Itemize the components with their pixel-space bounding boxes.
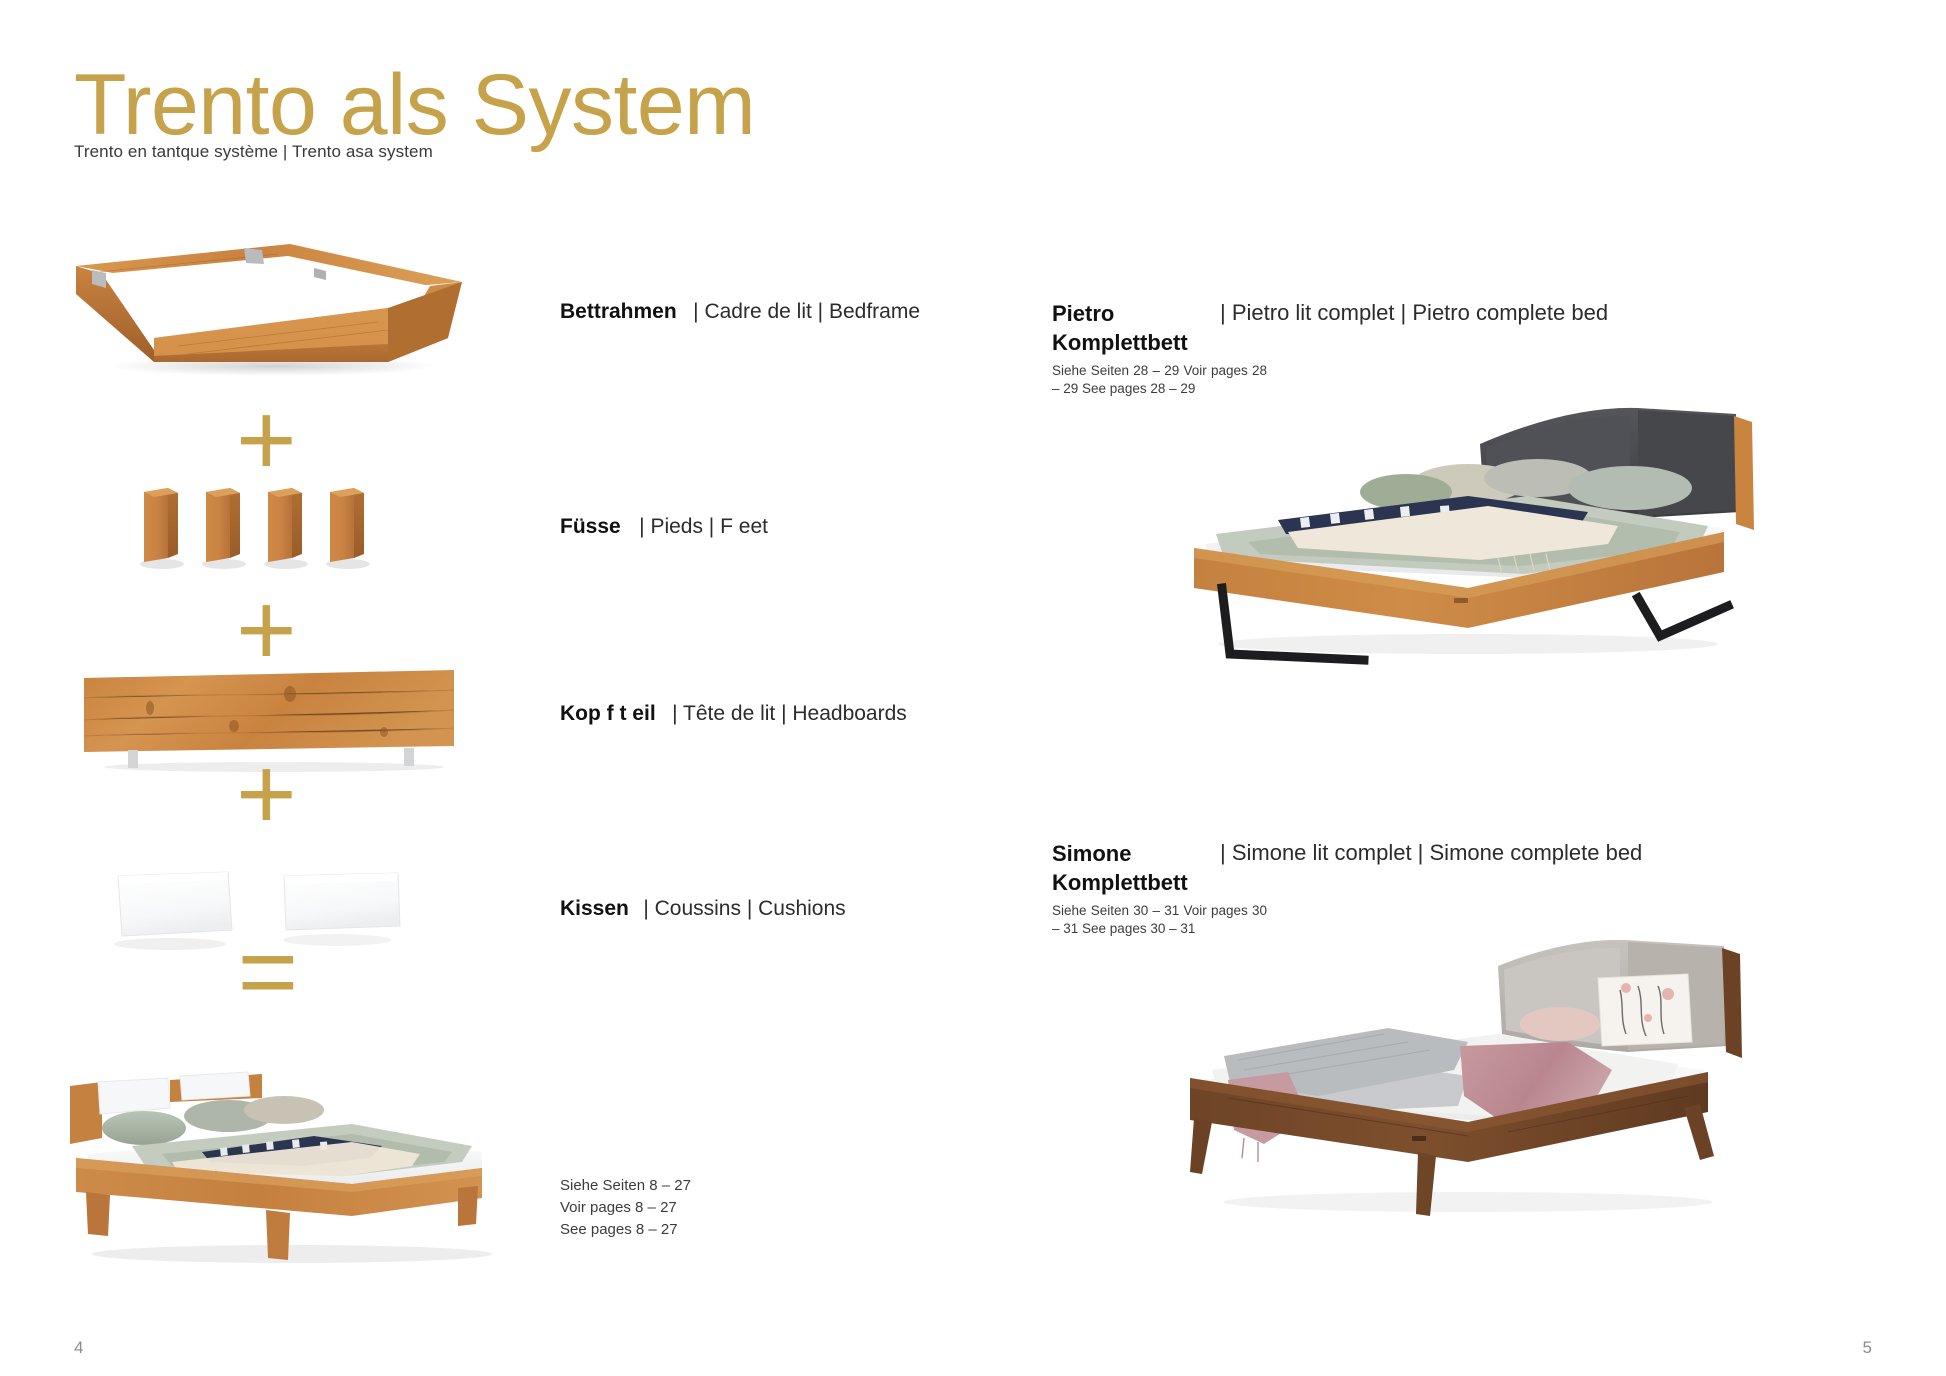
component-name-translations: | Coussins | Cushions [643, 897, 845, 920]
feet-image [140, 482, 400, 572]
component-label-cushions: Kissen | Coussins | Cushions [560, 897, 846, 921]
pietro-bed-image [1168, 392, 1768, 662]
page-number-left: 4 [74, 1338, 83, 1358]
page-number-right: 5 [1863, 1338, 1872, 1358]
component-name-translations: | Pieds | F eet [639, 515, 768, 538]
catalog-spread: Trento als System Trento en tantque syst… [0, 0, 1946, 1376]
operator-plus-3: + [236, 742, 297, 846]
product-heading-pietro: Pietro Komplettbett | Pietro lit complet… [1052, 300, 1612, 399]
trento-complete-bed-image [52, 1058, 522, 1268]
trento-page-reference: Siehe Seiten 8 – 27 Voir pages 8 – 27 Se… [560, 1175, 691, 1240]
component-name-de: Kissen [560, 897, 629, 920]
product-name-de-line2: Komplettbett [1052, 329, 1612, 358]
component-name-translations: | Tête de lit | Headboards [672, 702, 907, 725]
component-name-de: Bettrahmen [560, 300, 677, 323]
bedframe-image [58, 238, 478, 378]
operator-plus-1: + [236, 388, 297, 492]
product-name-de-line2: Komplettbett [1052, 869, 1612, 898]
component-name-de: Kop f t eil [560, 702, 656, 725]
component-label-feet: Füsse | Pieds | F eet [560, 515, 768, 539]
operator-plus-2: + [236, 578, 297, 682]
component-label-headboard: Kop f t eil | Tête de lit | Headboards [560, 702, 907, 726]
title-block: Trento als System Trento en tantque syst… [74, 62, 755, 162]
product-name-translations: | Simone lit complet | Simone complete b… [1220, 840, 1642, 866]
component-name-de: Füsse [560, 515, 621, 538]
simone-bed-image [1168, 930, 1768, 1220]
product-heading-simone: Simone Komplettbett | Simone lit complet… [1052, 840, 1612, 939]
component-label-bedframe: Bettrahmen | Cadre de lit | Bedframe [560, 300, 920, 324]
component-name-translations: | Cadre de lit | Bedframe [693, 300, 920, 323]
operator-equals: = [236, 920, 297, 1024]
page-title: Trento als System [74, 62, 755, 148]
product-name-translations: | Pietro lit complet | Pietro complete b… [1220, 300, 1608, 326]
